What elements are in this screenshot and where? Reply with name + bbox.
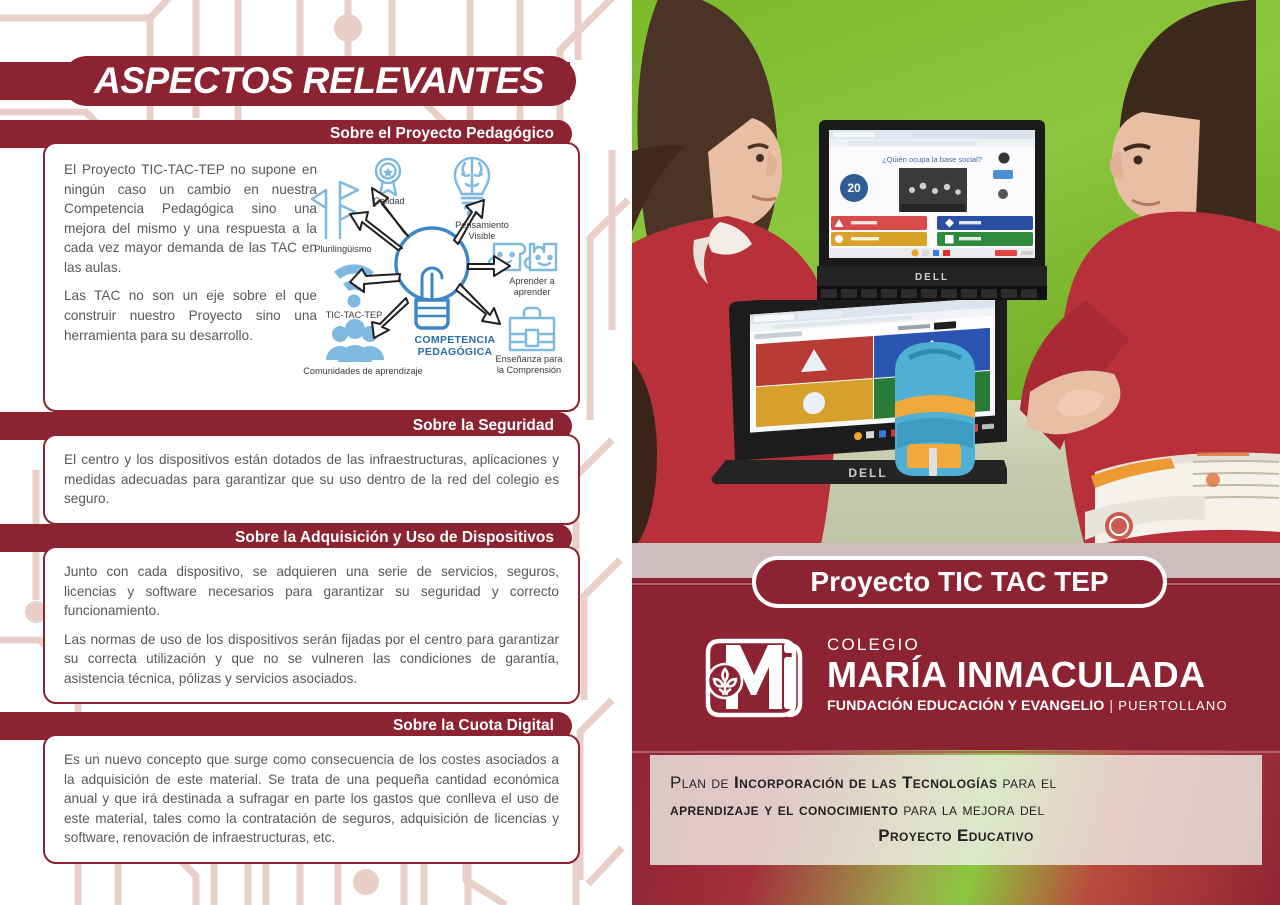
logo-foundation-line: FUNDACIÓN EDUCACIÓN Y EVANGELIO|PUERTOLL…: [827, 698, 1228, 714]
section-heading-text: Sobre la Cuota Digital: [393, 717, 554, 735]
project-title-pill: Proyecto TIC TAC TEP: [752, 556, 1167, 608]
tagline-emphasis: Incorporación de las Tecnologías: [734, 773, 997, 792]
label-line: aprender: [514, 287, 551, 297]
plan-tagline-band: Plan de Incorporación de las Tecnologías…: [650, 755, 1262, 865]
logo-colegio-label: COLEGIO: [827, 636, 1228, 655]
logo-separator: |: [1109, 698, 1113, 714]
tagline-line-2: aprendizaje y el conocimiento para la me…: [670, 797, 1242, 823]
label-line: Visible: [469, 231, 496, 241]
open-book-and-notebook: [1085, 420, 1280, 543]
page-title: ASPECTOS RELEVANTES: [62, 56, 576, 106]
tagline-emphasis: Proyecto Educativo: [878, 826, 1034, 845]
logo-school-name: MARÍA INMACULADA: [827, 656, 1228, 694]
section-body-adquisicion: Junto con cada dispositivo, se adquieren…: [43, 546, 580, 704]
paragraph: Junto con cada dispositivo, se adquieren…: [64, 562, 559, 621]
tagline-line-1: Plan de Incorporación de las Tecnologías…: [670, 770, 1242, 796]
label-line: la Comprensión: [497, 365, 561, 375]
page-title-text: ASPECTOS RELEVANTES: [94, 60, 544, 102]
classroom-photo: ¿Quién ocupa la base social? 20: [632, 0, 1280, 543]
section-heading-text: Sobre la Adquisición y Uso de Dispositiv…: [235, 529, 554, 547]
quiz-timer-value: 20: [847, 181, 861, 195]
paragraph: El Proyecto TIC-TAC-TEP no supone en nin…: [64, 160, 317, 277]
infographic-label-plurilinguismo: Plurilingüismo: [302, 244, 384, 255]
section-body-cuota: Es un nuevo concepto que surge como cons…: [43, 734, 580, 864]
infographic-center-label: COMPETENCIA PEDAGÓGICA: [400, 334, 510, 358]
tagline-line-3: Proyecto Educativo: [670, 823, 1242, 849]
infographic-label-aprender-a-aprender: Aprender a aprender: [496, 276, 568, 298]
quiz-question-text: ¿Quién ocupa la base social?: [882, 155, 982, 164]
paragraph: Las normas de uso de los dispositivos se…: [64, 630, 559, 689]
footer-divider-rule: [632, 746, 1280, 750]
paragraph: Las TAC no son un eje sobre el que const…: [64, 286, 317, 345]
laptop-main-dell: ¿Quién ocupa la base social? 20: [817, 120, 1047, 300]
maria-inmaculada-logo-icon: [692, 623, 817, 728]
center-label-line: COMPETENCIA: [415, 334, 496, 346]
infographic-label-comunidades: Comunidades de aprendizaje: [302, 366, 424, 377]
infographic-label-tic-tac-tep: TIC-TAC-TEP: [314, 310, 394, 321]
section-body-seguridad: El centro y los dispositivos están dotad…: [43, 434, 580, 525]
logo-city: PUERTOLLANO: [1118, 698, 1228, 713]
tagline-part: Plan de: [670, 773, 734, 792]
brochure-page: ASPECTOS RELEVANTES Sobre el Proyecto Pe…: [0, 0, 1280, 905]
paragraph: Es un nuevo concepto que surge como cons…: [64, 750, 559, 848]
center-label-line: PEDAGÓGICA: [418, 346, 493, 358]
logo-foundation-text: FUNDACIÓN EDUCACIÓN Y EVANGELIO: [827, 698, 1104, 714]
laptop-brand-label: DELL: [915, 272, 949, 283]
section-heading-text: Sobre la Seguridad: [413, 417, 554, 435]
infographic-label-calidad: Calidad: [360, 196, 418, 207]
school-logo-lockup: COLEGIO MARÍA INMACULADA FUNDACIÓN EDUCA…: [692, 620, 1280, 730]
left-content-panel: ASPECTOS RELEVANTES Sobre el Proyecto Pe…: [0, 0, 632, 905]
section-heading-text: Sobre el Proyecto Pedagógico: [330, 125, 554, 143]
tagline-part: para la mejora del: [898, 800, 1044, 819]
footer-divider-rule-light: [632, 751, 1280, 753]
paragraph: El centro y los dispositivos están dotad…: [64, 450, 559, 509]
backpack: [877, 328, 992, 488]
tagline-emphasis: aprendizaje y el conocimiento: [670, 800, 898, 819]
competencia-pedagogica-infographic: Calidad Pensamiento Visible Plurilingüis…: [304, 148, 572, 386]
tagline-part: para el: [997, 773, 1056, 792]
section-body-pedagogico: El Proyecto TIC-TAC-TEP no supone en nin…: [43, 142, 580, 412]
project-title-text: Proyecto TIC TAC TEP: [810, 566, 1108, 598]
logo-text-block: COLEGIO MARÍA INMACULADA FUNDACIÓN EDUCA…: [827, 636, 1228, 713]
right-cover-panel: ¿Quién ocupa la base social? 20: [632, 0, 1280, 905]
label-line: Pensamiento: [455, 220, 509, 230]
infographic-label-pensamiento-visible: Pensamiento Visible: [446, 220, 518, 242]
label-line: Aprender a: [509, 276, 554, 286]
